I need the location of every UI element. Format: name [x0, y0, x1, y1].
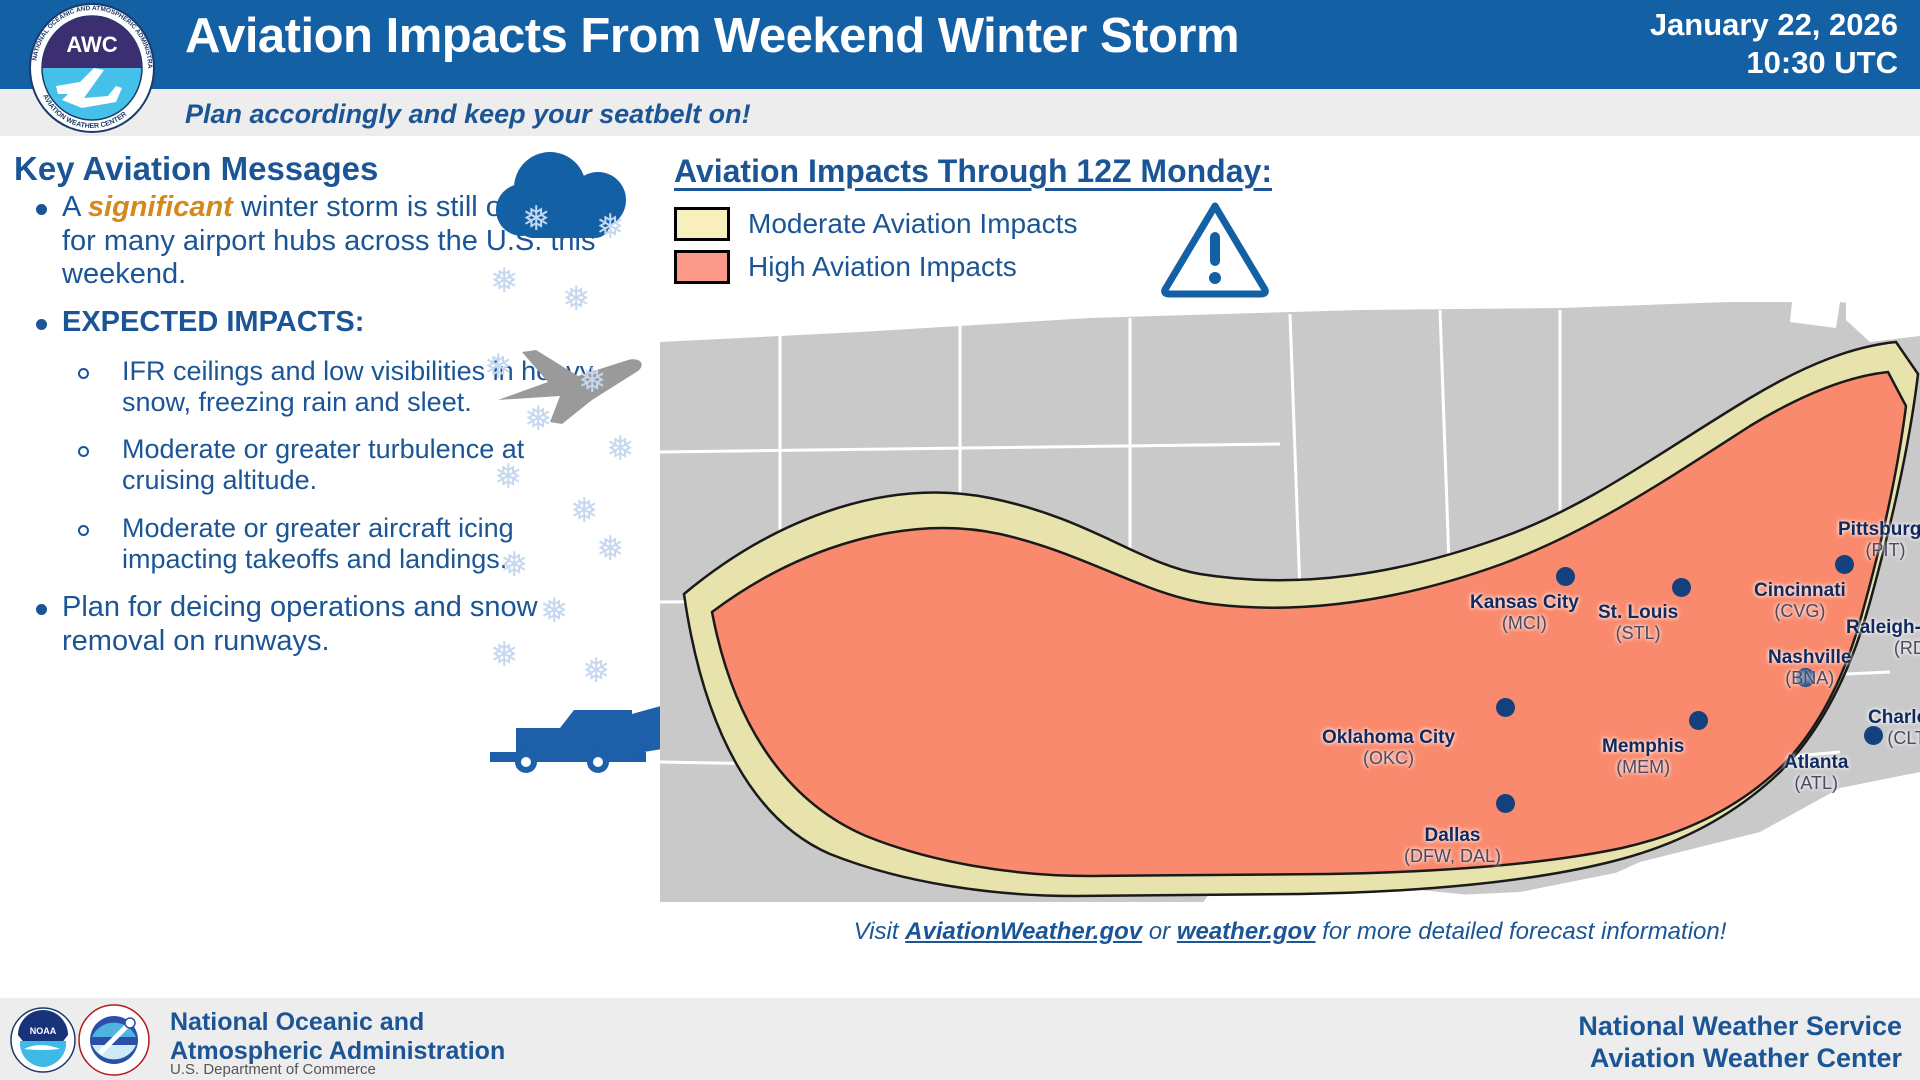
city-label-oklahoma-city: Oklahoma City (OKC) — [1322, 727, 1455, 768]
city-label-nashville: Nashville (BNA) — [1768, 647, 1851, 688]
noaa-seal-logo: NOAA — [10, 1005, 76, 1075]
doc-line: U.S. Department of Commerce — [170, 1061, 376, 1078]
city-code: (DFW, DAL) — [1404, 846, 1501, 866]
city-name: Nashville — [1768, 647, 1851, 668]
snowflake-icon: ❅ — [490, 264, 519, 298]
city-name: St. Louis — [1598, 602, 1678, 623]
nws-seal-logo — [78, 1003, 150, 1077]
nws-name: National Weather Service Aviation Weathe… — [1578, 1010, 1902, 1075]
snowflake-icon: ❅ — [500, 548, 529, 582]
header-time: 10:30 UTC — [1478, 44, 1898, 82]
legend-label-high: High Aviation Impacts — [748, 251, 1017, 283]
city-code: (STL) — [1598, 623, 1678, 643]
legend-item-moderate: Moderate Aviation Impacts — [674, 202, 1077, 245]
snowflake-field: ❅ ❅ ❅ ❅ ❅ ❅ ❅ ❅ ❅ ❅ ❅ ❅ ❅ ❅ ❅ — [478, 202, 668, 762]
city-label-memphis: Memphis (MEM) — [1602, 736, 1684, 777]
city-name: Oklahoma City — [1322, 727, 1455, 748]
snowflake-icon: ❅ — [484, 350, 513, 384]
city-code: (CLT) — [1868, 728, 1920, 748]
svg-text:NOAA: NOAA — [30, 1026, 57, 1036]
tagline: Plan accordingly and keep your seatbelt … — [185, 99, 751, 130]
city-code: (ATL) — [1784, 773, 1848, 793]
city-name: Atlanta — [1784, 752, 1848, 773]
city-label-charlotte: Charlotte (CLT) — [1868, 707, 1920, 748]
bullet-storm-pre: A — [62, 191, 88, 223]
visit-line: Visit AviationWeather.gov or weather.gov… — [660, 918, 1920, 946]
city-code: (CVG) — [1754, 601, 1846, 621]
visit-pre: Visit — [854, 918, 906, 945]
snowflake-icon: ❅ — [494, 460, 523, 494]
city-dot-oklahoma-city — [1496, 698, 1515, 717]
snowflake-icon: ❅ — [522, 202, 551, 236]
city-code: (PIT) — [1838, 540, 1920, 560]
timestamp-block: January 22, 2026 10:30 UTC — [1478, 6, 1898, 82]
city-label-atlanta: Atlanta (ATL) — [1784, 752, 1848, 793]
svg-text:AWC: AWC — [66, 32, 117, 57]
city-dot-kansas-city — [1556, 567, 1575, 586]
nws-line-2: Aviation Weather Center — [1578, 1042, 1902, 1074]
impact-map: Boston (BOS) New York (JFK, LGA, EWR) Ph… — [660, 302, 1920, 907]
noaa-line-1: National Oceanic and — [170, 1008, 505, 1037]
snowflake-icon: ❅ — [582, 654, 611, 688]
visit-post: for more detailed forecast information! — [1316, 918, 1727, 945]
city-label-pittsburgh: Pittsburgh (PIT) — [1838, 519, 1920, 560]
city-name: Charlotte — [1868, 707, 1920, 728]
city-code: (OKC) — [1322, 748, 1455, 768]
map-graphic — [660, 302, 1920, 907]
city-dot-dallas — [1496, 794, 1515, 813]
nws-line-1: National Weather Service — [1578, 1010, 1902, 1042]
map-panel: Aviation Impacts Through 12Z Monday: Mod… — [660, 136, 1920, 998]
awc-logo: AWC NATIONAL OCEANIC AND ATMOSPHERIC ADM… — [22, 2, 162, 134]
snowflake-icon: ❅ — [570, 494, 599, 528]
city-label-cincinnati: Cincinnati (CVG) — [1754, 580, 1846, 621]
legend-swatch-moderate — [674, 207, 730, 241]
city-code: (MEM) — [1602, 757, 1684, 777]
link-aviationweather[interactable]: AviationWeather.gov — [905, 918, 1142, 945]
header-date: January 22, 2026 — [1478, 6, 1898, 44]
city-name: Kansas City — [1470, 592, 1579, 613]
city-code: (MCI) — [1470, 613, 1579, 633]
legend-swatch-high — [674, 250, 730, 284]
city-name: Raleigh-Durham — [1846, 617, 1920, 638]
snowflake-icon: ❅ — [524, 402, 553, 436]
page-title: Aviation Impacts From Weekend Winter Sto… — [185, 8, 1239, 64]
city-code: (RDU) — [1846, 638, 1920, 658]
warning-triangle-icon — [1160, 198, 1270, 298]
noaa-name: National Oceanic and Atmospheric Adminis… — [170, 1008, 505, 1066]
city-name: Pittsburgh — [1838, 519, 1920, 540]
legend-label-moderate: Moderate Aviation Impacts — [748, 208, 1077, 240]
city-label-kansas-city: Kansas City (MCI) — [1470, 592, 1579, 633]
snowflake-icon: ❅ — [562, 282, 591, 316]
city-label-st-louis: St. Louis (STL) — [1598, 602, 1678, 643]
weather-art-column: ❅ ❅ ❅ ❅ ❅ ❅ ❅ ❅ ❅ ❅ ❅ ❅ ❅ ❅ ❅ — [478, 142, 668, 802]
map-legend: Moderate Aviation Impacts High Aviation … — [674, 202, 1077, 288]
snowflake-icon: ❅ — [540, 594, 569, 628]
city-name: Memphis — [1602, 736, 1684, 757]
bullet-storm-highlight: significant — [88, 191, 233, 223]
snowflake-icon: ❅ — [606, 432, 635, 466]
key-messages-heading: Key Aviation Messages — [14, 150, 378, 188]
infographic-root: AWC NATIONAL OCEANIC AND ATMOSPHERIC ADM… — [0, 0, 1920, 1080]
snowflake-icon: ❅ — [578, 364, 607, 398]
snowplow-truck-icon — [482, 698, 672, 778]
legend-item-high: High Aviation Impacts — [674, 245, 1077, 288]
city-dot-st-louis — [1672, 578, 1691, 597]
city-label-raleigh-durham: Raleigh-Durham (RDU) — [1846, 617, 1920, 658]
snowflake-icon: ❅ — [596, 532, 625, 566]
city-name: Dallas — [1404, 825, 1501, 846]
city-label-dallas: Dallas (DFW, DAL) — [1404, 825, 1501, 866]
visit-mid: or — [1142, 918, 1177, 945]
link-weather-gov[interactable]: weather.gov — [1177, 918, 1316, 945]
snowflake-icon: ❅ — [596, 210, 625, 244]
city-name: Cincinnati — [1754, 580, 1846, 601]
snowflake-icon: ❅ — [490, 638, 519, 672]
city-code: (BNA) — [1768, 668, 1851, 688]
map-title: Aviation Impacts Through 12Z Monday: — [674, 153, 1272, 190]
city-dot-memphis — [1689, 711, 1708, 730]
